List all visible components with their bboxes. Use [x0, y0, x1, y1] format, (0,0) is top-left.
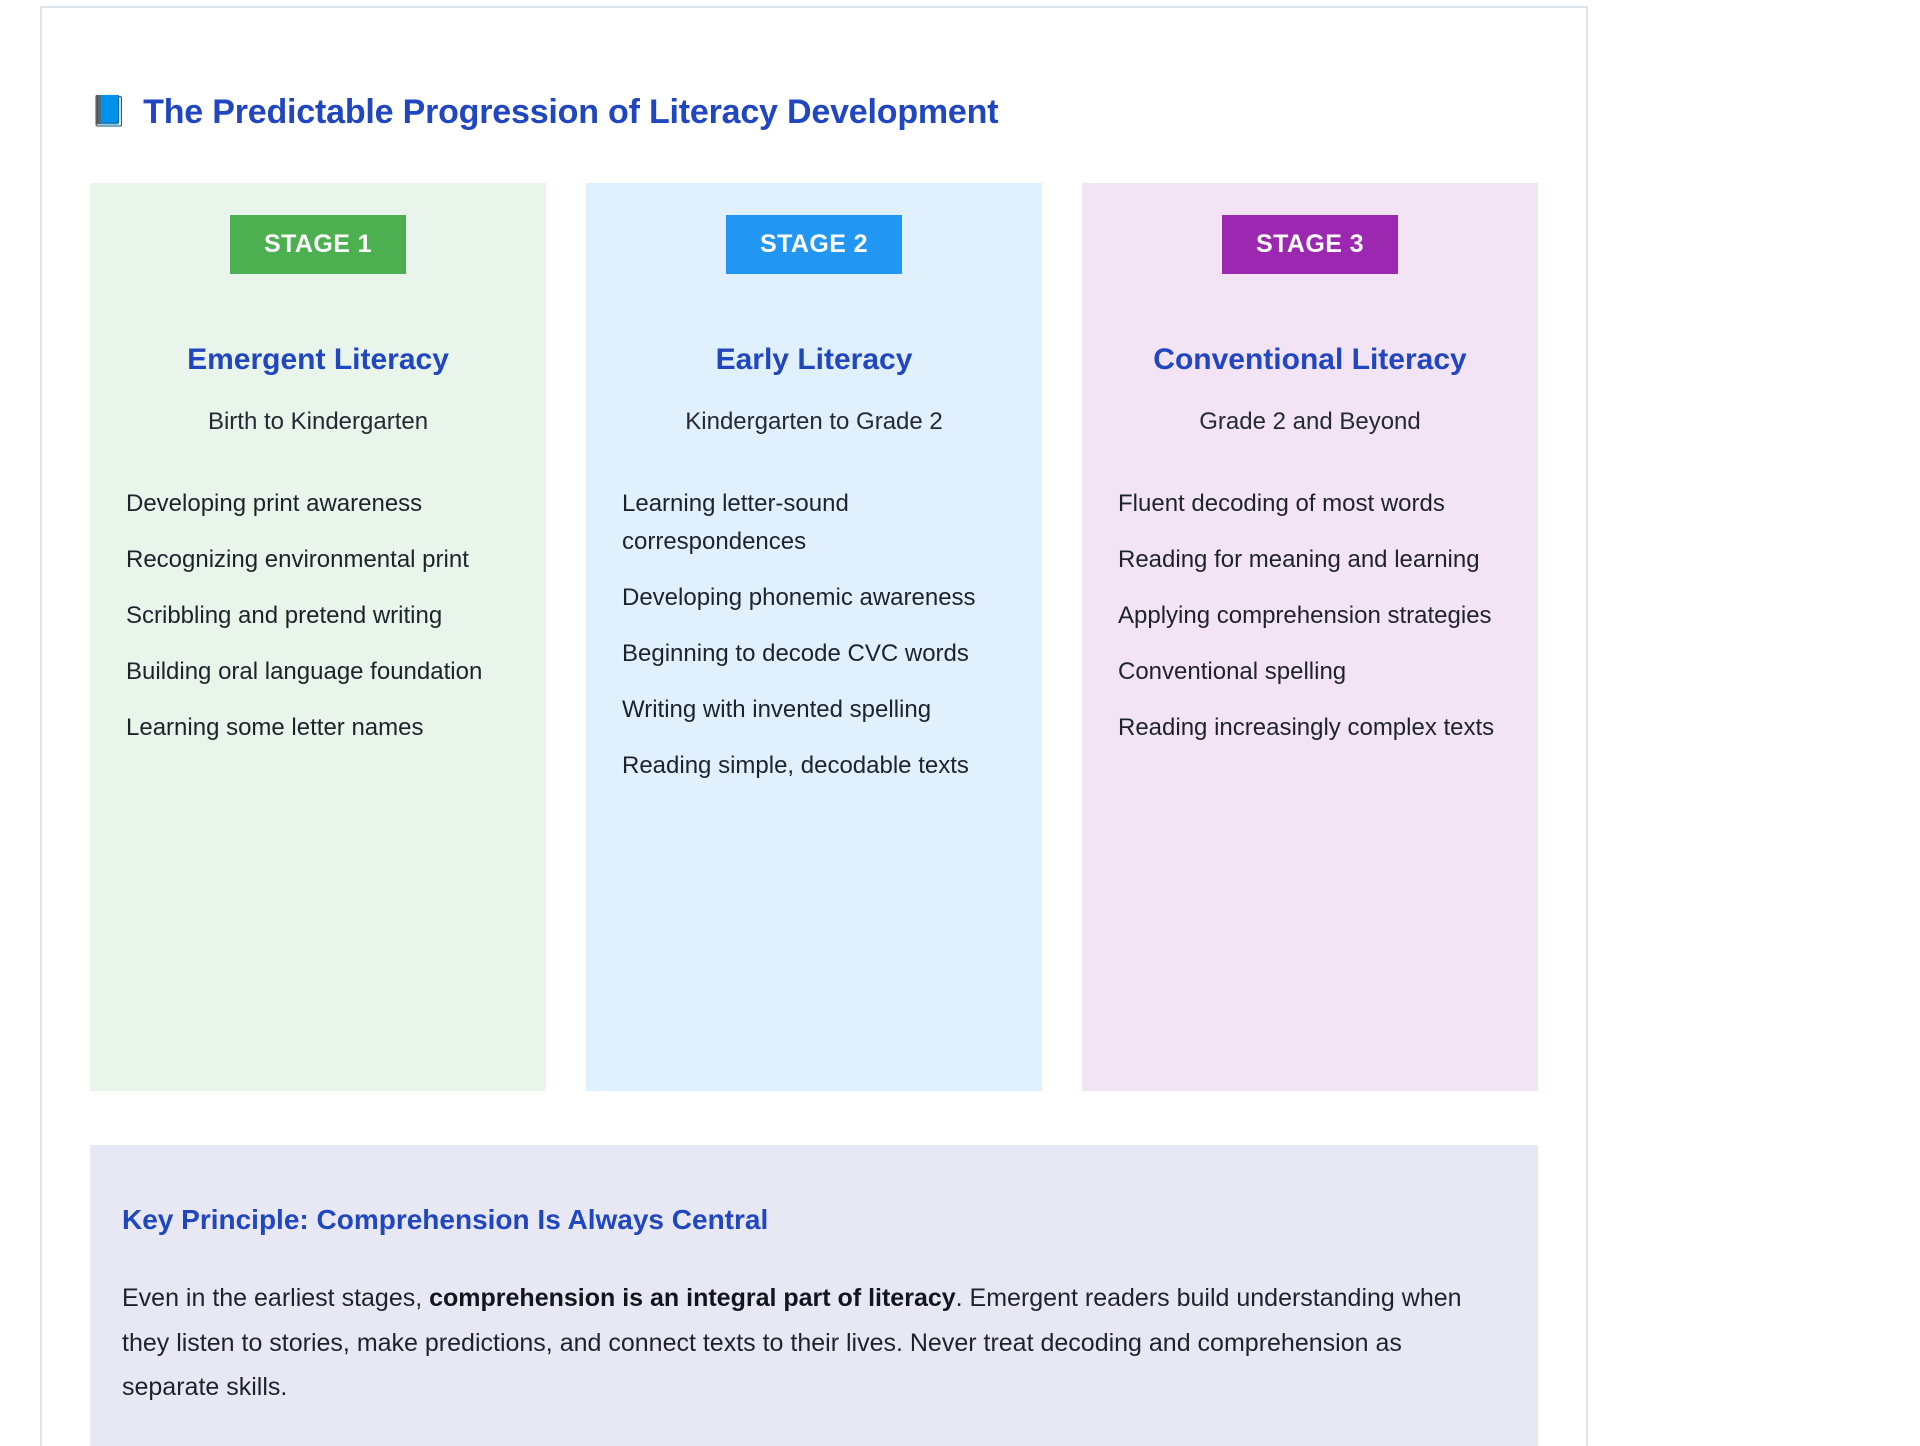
stage-range-3: Grade 2 and Beyond [1118, 406, 1502, 437]
page-root: 📘 The Predictable Progression of Literac… [0, 0, 1920, 1446]
stage-badge-1: STAGE 1 [230, 215, 406, 274]
stage-range-2: Kindergarten to Grade 2 [622, 406, 1006, 437]
list-item: Developing phonemic awareness [622, 579, 1006, 617]
key-principle-body-part1: Even in the earliest stages, [122, 1284, 429, 1312]
stage-badge-3: STAGE 3 [1222, 215, 1398, 274]
stage-range-1: Birth to Kindergarten [126, 406, 510, 437]
literacy-progression-card: 📘 The Predictable Progression of Literac… [40, 6, 1588, 1446]
list-item: Developing print awareness [126, 485, 510, 523]
list-item: Reading for meaning and learning [1118, 541, 1502, 579]
book-icon: 📘 [90, 97, 127, 127]
list-item: Reading increasingly complex texts [1118, 709, 1502, 747]
page-title: 📘 The Predictable Progression of Literac… [90, 92, 1538, 133]
key-principle-callout: Key Principle: Comprehension Is Always C… [90, 1145, 1538, 1446]
stage-badge-wrap-1: STAGE 1 [126, 215, 510, 274]
list-item: Learning letter-sound correspondences [622, 485, 1006, 561]
list-item: Recognizing environmental print [126, 541, 510, 579]
key-principle-body: Even in the earliest stages, comprehensi… [122, 1276, 1506, 1410]
stage-badge-wrap-3: STAGE 3 [1118, 215, 1502, 274]
key-principle-title: Key Principle: Comprehension Is Always C… [122, 1203, 1506, 1237]
stage-columns: STAGE 1 Emergent Literacy Birth to Kinde… [90, 183, 1538, 1091]
list-item: Beginning to decode CVC words [622, 635, 1006, 673]
stage-panel-3: STAGE 3 Conventional Literacy Grade 2 an… [1082, 183, 1538, 1091]
key-principle-body-emphasis: comprehension is an integral part of lit… [429, 1284, 956, 1312]
stage-name-1: Emergent Literacy [126, 342, 510, 378]
stage-list-2: Learning letter-sound correspondences De… [622, 485, 1006, 784]
list-item: Conventional spelling [1118, 653, 1502, 691]
list-item: Fluent decoding of most words [1118, 485, 1502, 523]
stage-panel-2: STAGE 2 Early Literacy Kindergarten to G… [586, 183, 1042, 1091]
stage-badge-wrap-2: STAGE 2 [622, 215, 1006, 274]
stage-list-1: Developing print awareness Recognizing e… [126, 485, 510, 747]
stage-name-3: Conventional Literacy [1118, 342, 1502, 378]
stage-panel-1: STAGE 1 Emergent Literacy Birth to Kinde… [90, 183, 546, 1091]
list-item: Reading simple, decodable texts [622, 747, 1006, 785]
stage-name-2: Early Literacy [622, 342, 1006, 378]
list-item: Writing with invented spelling [622, 691, 1006, 729]
list-item: Scribbling and pretend writing [126, 597, 510, 635]
page-title-text: The Predictable Progression of Literacy … [143, 92, 998, 133]
list-item: Learning some letter names [126, 709, 510, 747]
list-item: Building oral language foundation [126, 653, 510, 691]
stage-list-3: Fluent decoding of most words Reading fo… [1118, 485, 1502, 747]
stage-badge-2: STAGE 2 [726, 215, 902, 274]
list-item: Applying comprehension strategies [1118, 597, 1502, 635]
